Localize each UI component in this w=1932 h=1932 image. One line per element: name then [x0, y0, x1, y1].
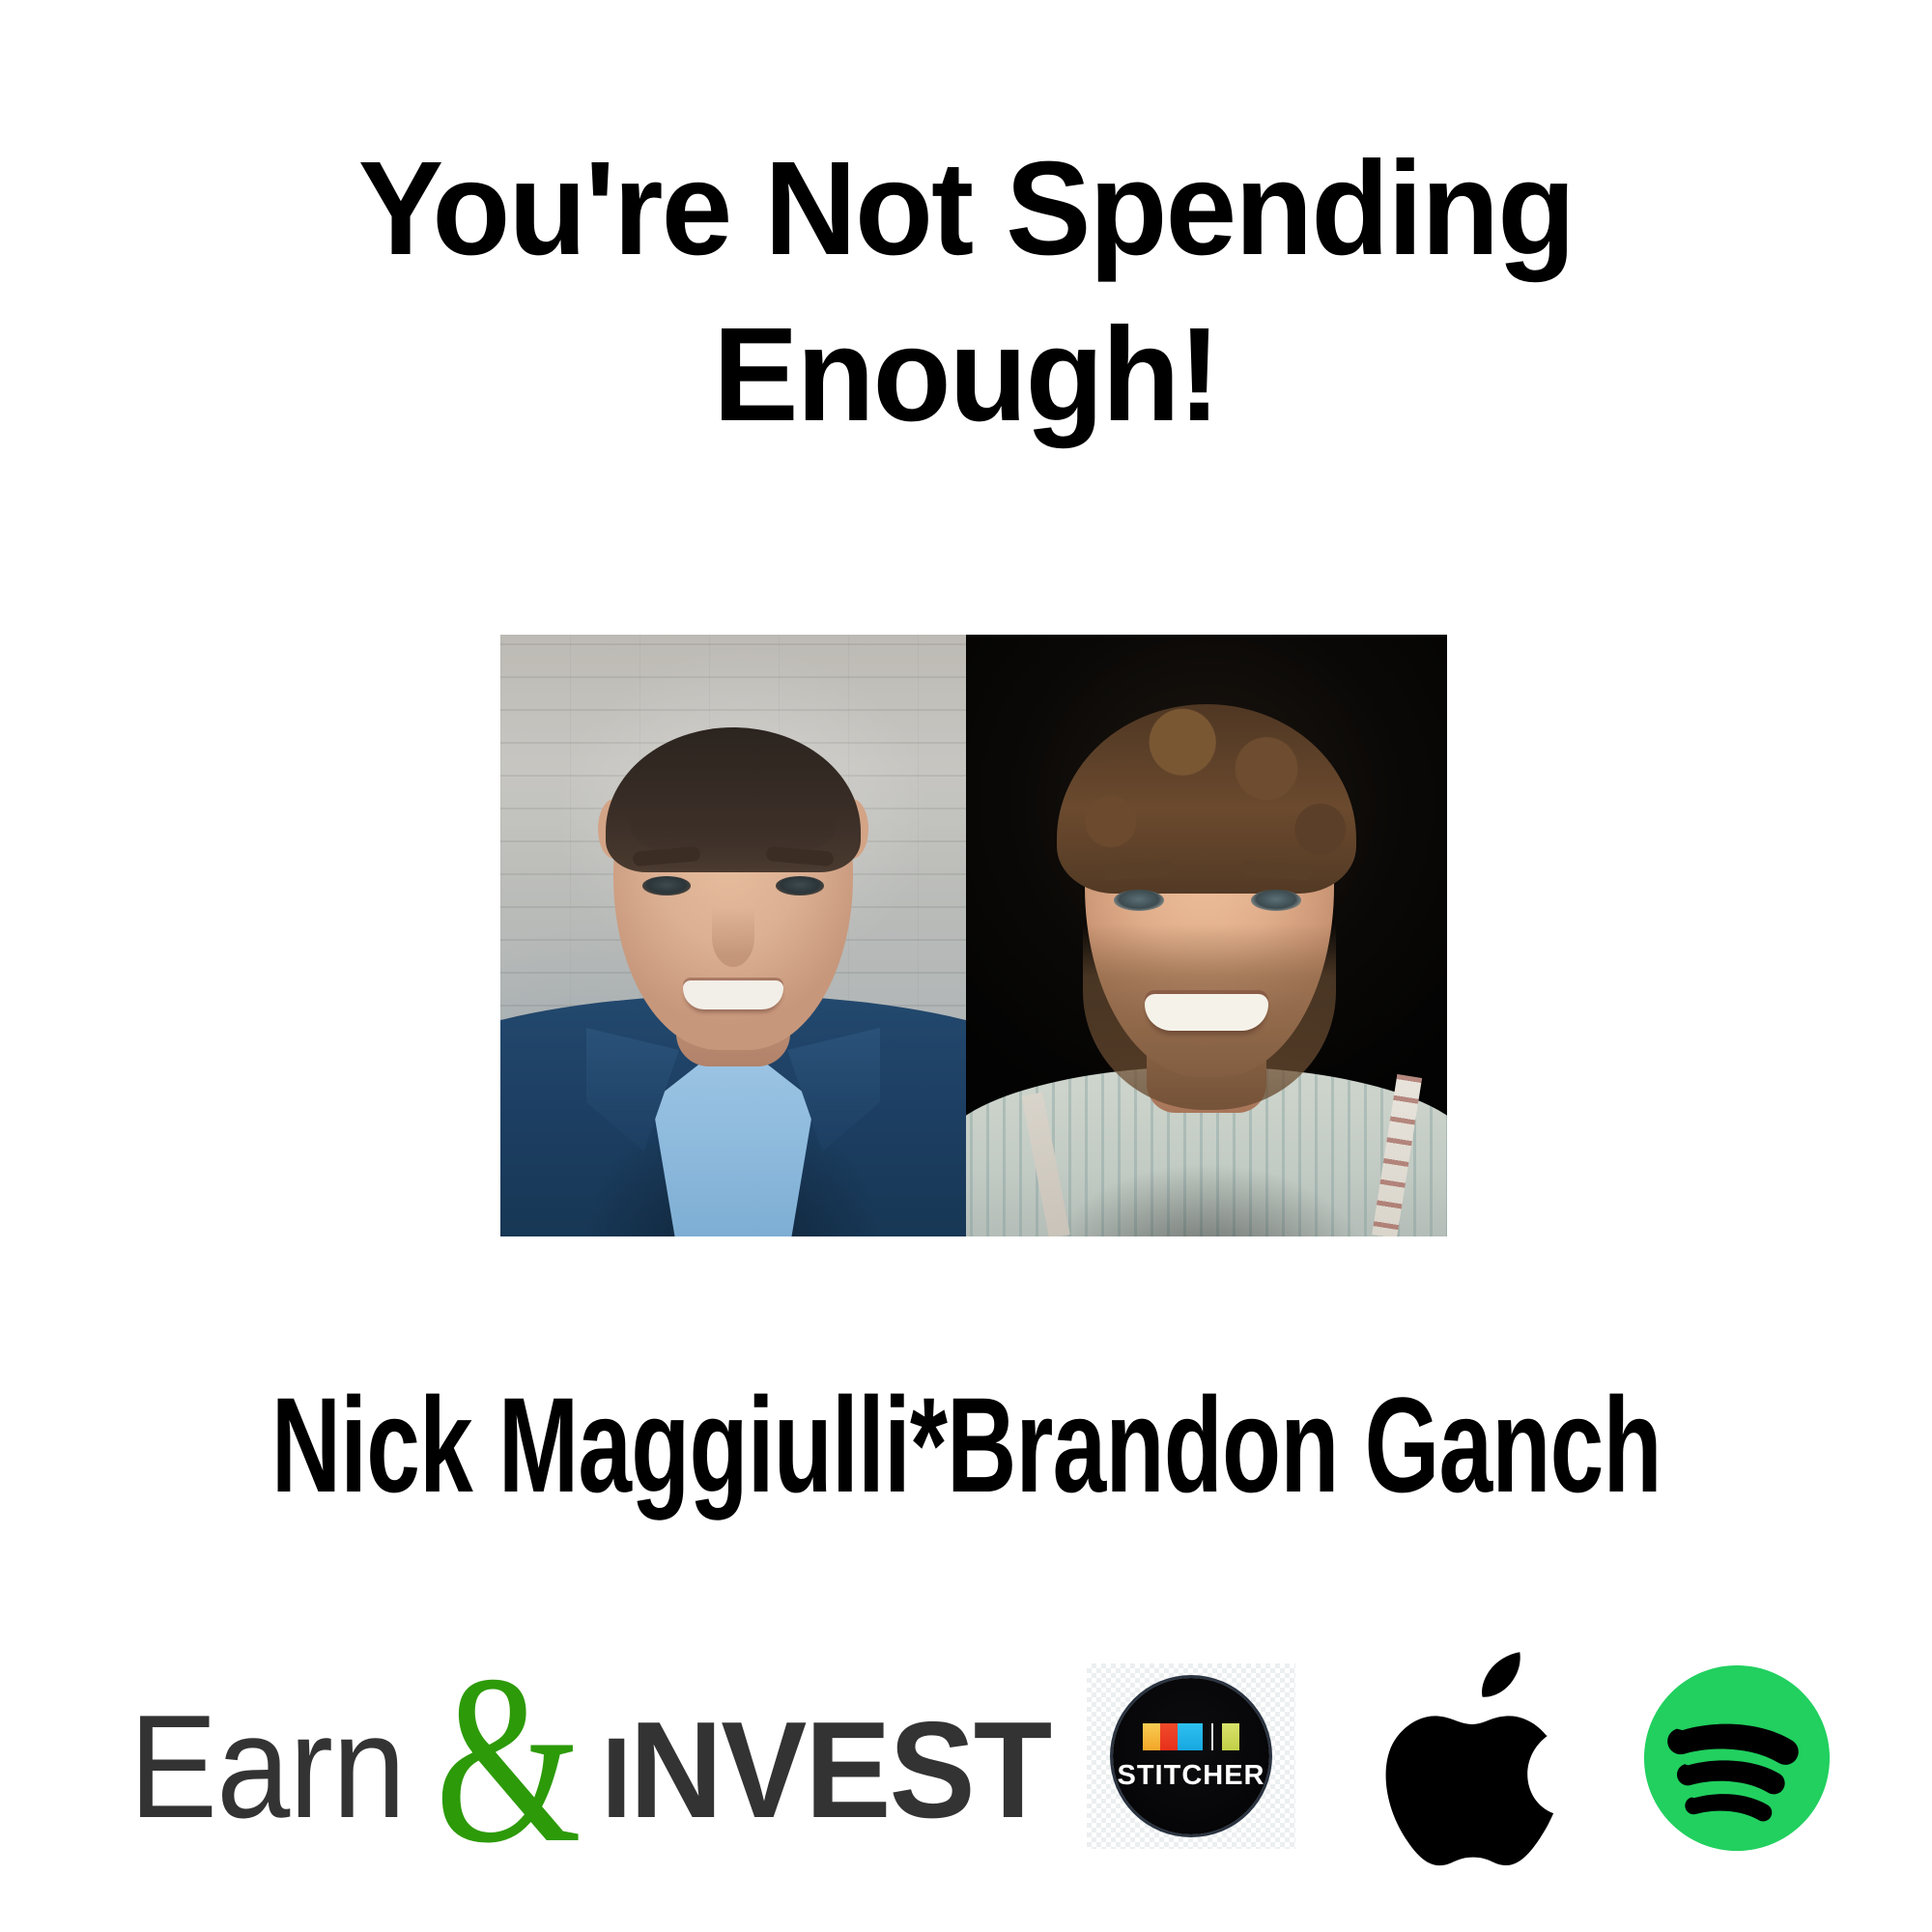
photo-eye-right — [1251, 890, 1301, 911]
photo-nose — [712, 907, 754, 967]
photo-eye-left — [1114, 890, 1164, 911]
photo-smile — [1145, 994, 1268, 1031]
stitcher-badge[interactable]: STITCHER — [1087, 1663, 1295, 1849]
stitcher-bar-red — [1160, 1723, 1178, 1750]
guest-photo-nick-maggiulli — [500, 635, 966, 1236]
podcast-episode-cover: You're Not Spending Enough! — [0, 0, 1932, 1932]
episode-title-line-1: You're Not Spending — [39, 126, 1893, 292]
ampersand-icon: & — [435, 1687, 582, 1833]
stitcher-bar-gap-2 — [1213, 1723, 1222, 1750]
stitcher-bar-lime — [1222, 1723, 1239, 1750]
stitcher-bars-icon — [1143, 1723, 1239, 1750]
spotify-icon — [1642, 1663, 1832, 1853]
guest-names-text: Nick Maggiulli*Brandon Ganch — [271, 1376, 1662, 1517]
guest-photo-pair — [500, 635, 1447, 1236]
stitcher-bar-yellow — [1143, 1723, 1160, 1750]
spotify-badge[interactable] — [1642, 1663, 1832, 1853]
photo-eye-right — [776, 876, 824, 895]
earn-and-invest-logo[interactable]: Earn & INVEST — [114, 1663, 1065, 1837]
brand-word-invest: INVEST — [601, 1702, 1050, 1847]
stitcher-wordmark: STITCHER — [1118, 1762, 1265, 1790]
stitcher-bar-blue — [1178, 1723, 1203, 1750]
stitcher-icon: STITCHER — [1113, 1678, 1269, 1834]
episode-title-line-2: Enough! — [39, 292, 1893, 458]
episode-title: You're Not Spending Enough! — [0, 126, 1932, 458]
footer-bar: Earn & INVEST STITCHER — [0, 1633, 1932, 1913]
guest-photo-brandon-ganch — [966, 635, 1447, 1236]
photo-smile — [683, 980, 783, 1009]
photo-eye-left — [642, 876, 691, 895]
stitcher-bar-gap — [1203, 1723, 1211, 1750]
apple-podcasts-badge[interactable] — [1370, 1646, 1592, 1878]
guest-names: Nick Maggiulli*Brandon Ganch — [0, 1383, 1932, 1509]
brand-word-earn: Earn — [129, 1693, 405, 1840]
brand-word-invest-initial: I — [601, 1715, 629, 1842]
apple-icon — [1370, 1646, 1592, 1878]
brand-word-invest-rest: NVEST — [629, 1693, 1050, 1847]
